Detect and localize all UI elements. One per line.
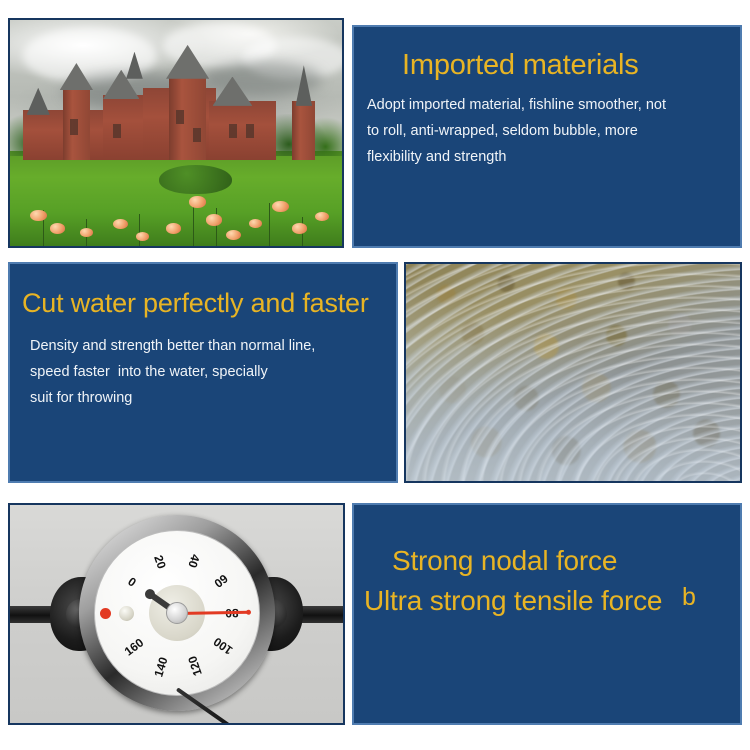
lawn-bush — [159, 165, 232, 194]
castle-photo — [8, 18, 344, 248]
water-photo — [404, 262, 742, 483]
section-strong-nodal-force: Strong nodal force Ultra strong tensile … — [352, 503, 742, 725]
gauge-photo: 020406080100120140160 KN/LBF — [8, 503, 345, 725]
gauge-red-knob — [100, 608, 111, 619]
gauge-screw — [119, 606, 134, 621]
infographic-page: Imported materials Adopt imported materi… — [0, 0, 750, 750]
headline-strong-nodal-force: Strong nodal force — [392, 547, 617, 575]
headline-imported-materials: Imported materials — [402, 51, 639, 80]
gauge-number-40: 40 — [185, 553, 202, 570]
gauge-number-0: 0 — [126, 575, 140, 590]
section-imported-materials: Imported materials Adopt imported materi… — [352, 25, 742, 248]
body-imported-materials: Adopt imported material, fishline smooth… — [367, 93, 666, 170]
body-line: Adopt imported material, fishline smooth… — [367, 97, 666, 113]
gauge-bezel: 020406080100120140160 KN/LBF — [79, 515, 275, 711]
section-cut-water: Cut water perfectly and faster Density a… — [8, 262, 398, 483]
gauge-needle-black — [175, 687, 240, 725]
water-surface-sheen — [406, 264, 740, 481]
overlap-artifact-glyph: b — [682, 585, 696, 610]
body-line: to roll, anti-wrapped, seldom bubble, mo… — [367, 123, 638, 139]
body-line: Density and strength better than normal … — [30, 338, 315, 354]
castle-wing-right — [209, 101, 275, 160]
body-line: speed faster into the water, specially — [30, 364, 268, 380]
gauge-number-100: 100 — [210, 634, 234, 657]
body-line: suit for throwing — [30, 390, 132, 406]
gauge-number-120: 120 — [186, 654, 206, 677]
gauge-dial-face: 020406080100120140160 KN/LBF — [94, 530, 260, 696]
headline-cut-water: Cut water perfectly and faster — [22, 290, 369, 317]
gauge-hub — [166, 602, 188, 624]
castle-tower-main — [169, 74, 206, 160]
body-line: flexibility and strength — [367, 149, 506, 165]
headline-ultra-strong-tensile-force: Ultra strong tensile force — [364, 587, 662, 615]
body-cut-water: Density and strength better than normal … — [30, 334, 315, 411]
chapel-tower — [292, 101, 315, 160]
